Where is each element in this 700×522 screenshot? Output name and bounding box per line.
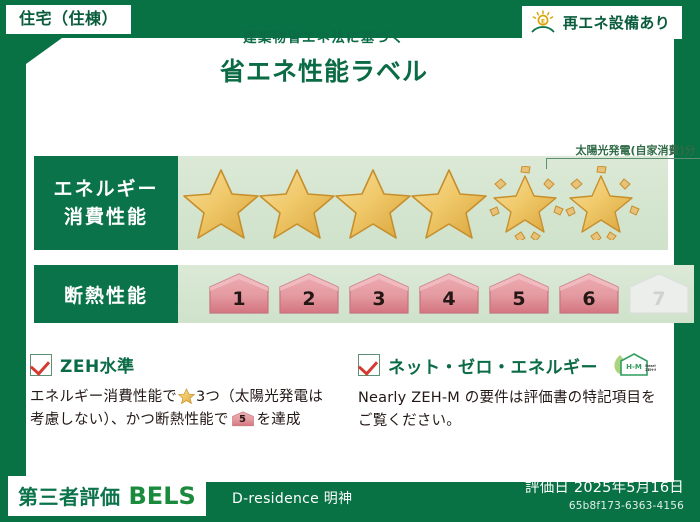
title-main: 省エネ性能ラベル	[0, 52, 648, 88]
insulation-level-1-number: 1	[232, 288, 245, 316]
energy-label-line1: エネルギー	[53, 175, 158, 204]
insulation-level-5-number: 5	[512, 288, 525, 316]
insulation-badge-inline-number: 5	[231, 412, 255, 428]
svg-text:H-M: H-M	[626, 363, 642, 371]
bels-badge: 第三者評価 BELS	[8, 476, 206, 516]
insulation-level-3: 3	[346, 272, 412, 316]
star-icon-1	[182, 166, 260, 240]
solar-annotation-label: 太陽光発電(自家消費)分	[543, 142, 700, 158]
footer-meta: 評価日 2025年5月16日 65b8f173-6363-4156	[525, 476, 684, 512]
insulation-label-text: 断熱性能	[64, 281, 148, 308]
insulation-performance-row: 断熱性能 1	[34, 265, 668, 323]
insulation-level-2: 2	[276, 272, 342, 316]
zeh-m-logo-icon: H-M Nearly ZEH-M	[606, 352, 656, 378]
renewable-badge-label: 再エネ設備あり	[563, 12, 670, 33]
category-tab: 住宅（住棟）	[6, 5, 131, 34]
zeh-body-part1: エネルギー消費性能で	[30, 389, 177, 405]
insulation-level-6: 6	[556, 272, 622, 316]
net-zero-energy-check-section: ネット・ゼロ・エネルギー H-M Nearly ZEH-M Nearly ZEH…	[358, 352, 670, 434]
zeh-check-body: エネルギー消費性能で3つ（太陽光発電は考慮しない）、かつ断熱性能で5を達成	[30, 386, 330, 433]
insulation-level-7-number: 7	[652, 288, 665, 316]
checkmark-icon-nze[interactable]	[358, 354, 380, 376]
star-icon-4	[410, 166, 488, 240]
zeh-check-header: ZEH水準	[30, 352, 330, 377]
zeh-check-title: ZEH水準	[60, 352, 135, 377]
star-icon-3	[334, 166, 412, 240]
insulation-level-1: 1	[206, 272, 272, 316]
insulation-row-label: 断熱性能	[34, 265, 178, 323]
insulation-level-6-number: 6	[582, 288, 595, 316]
nze-check-header: ネット・ゼロ・エネルギー H-M Nearly ZEH-M	[358, 352, 670, 378]
insulation-level-4: 4	[416, 272, 482, 316]
nze-check-body: Nearly ZEH-M の要件は評価書の特記項目をご覧ください。	[358, 387, 670, 434]
nze-check-title: ネット・ゼロ・エネルギー	[388, 353, 598, 378]
svg-text:ZEH-M: ZEH-M	[645, 368, 656, 372]
evaluation-date: 評価日 2025年5月16日	[525, 476, 684, 497]
bels-logo-text: BELS	[129, 482, 196, 510]
insulation-level-track: 1 2 3 4	[178, 265, 694, 323]
zeh-check-section: ZEH水準 エネルギー消費性能で3つ（太陽光発電は考慮しない）、かつ断熱性能で5…	[30, 352, 330, 433]
energy-row-label: エネルギー 消費性能	[34, 156, 178, 250]
insulation-level-3-number: 3	[372, 288, 385, 316]
insulation-level-4-number: 4	[442, 288, 455, 316]
energy-performance-label: 住宅（住棟） E 再エネ設備あり 建築物省エネ法に基づく 省エネ性能ラベル	[0, 0, 700, 522]
insulation-badge-inline: 5	[231, 411, 255, 427]
evaluation-id: 65b8f173-6363-4156	[525, 500, 684, 512]
checkmark-icon-zeh[interactable]	[30, 354, 52, 376]
solar-annotation-bracket	[546, 158, 700, 169]
insulation-level-7-inactive: 7	[626, 272, 692, 316]
third-party-evaluation-label: 第三者評価	[18, 481, 121, 510]
insulation-level-5: 5	[486, 272, 552, 316]
star-icon-6-solar	[562, 166, 640, 240]
energy-label-line2: 消費性能	[64, 203, 148, 232]
insulation-level-2-number: 2	[302, 288, 315, 316]
building-name: D-residence 明神	[232, 488, 352, 508]
zeh-body-part3: を達成	[257, 412, 301, 428]
renewable-energy-badge: E 再エネ設備あり	[522, 6, 682, 39]
sun-icon: E	[530, 10, 556, 34]
svg-text:E: E	[541, 18, 545, 25]
star-icon-inline	[178, 388, 195, 404]
energy-performance-row: エネルギー 消費性能 太陽光発電(自家消費)分	[34, 156, 668, 250]
star-icon-5-solar	[486, 166, 564, 240]
star-icon-2	[258, 166, 336, 240]
energy-star-track: 太陽光発電(自家消費)分	[178, 156, 668, 250]
